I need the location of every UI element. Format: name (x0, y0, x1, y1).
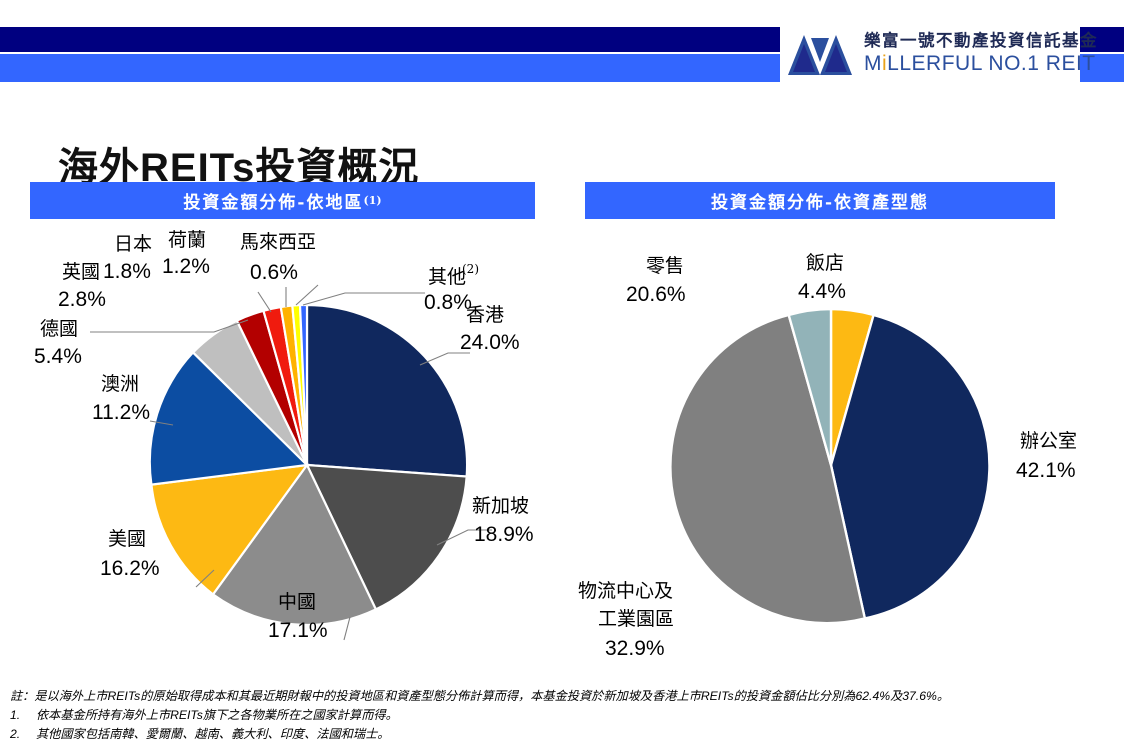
footnotes: 註：是以海外上市REITs的原始取得成本和其最近期財報中的投資地區和資產型態分佈… (10, 687, 1124, 744)
label-us-val: 16.2% (100, 557, 160, 580)
label-uk-val: 2.8% (58, 288, 106, 311)
label-hotel-name: 飯店 (806, 252, 844, 274)
label-hk-name: 香港 (466, 304, 504, 326)
logo-chinese-name: 樂富一號不動產投資信託基金 (864, 33, 1098, 50)
logo-en-post: LLERFUL NO.1 REIT (887, 52, 1095, 75)
label-hk-val: 24.0% (460, 331, 520, 354)
footnote-main-a: 註：是以海外上市 (10, 687, 108, 706)
label-nl-name: 荷蘭 (168, 229, 206, 251)
footnote-main-b: 的原始取得成本和其最近期財報中的投資地區和資產型態分佈計算而得，本基金投資於新加… (140, 687, 701, 706)
label-hotel-val: 4.4% (798, 280, 846, 303)
triangles-logo-icon (786, 31, 854, 77)
panel-header-by-region: 投資金額分佈-依地區(1) (30, 182, 535, 219)
panel-header-left-text: 投資金額分佈-依地區 (183, 188, 363, 213)
label-us-name: 美國 (108, 528, 146, 550)
footnote-main-c: 的投資金額佔比分別為 (734, 687, 856, 706)
label-jp-name: 日本 (114, 233, 152, 255)
footnote-main-lat2: REITs (701, 687, 734, 706)
label-jp-val-inline: 1.8% (103, 260, 151, 283)
label-office-val: 42.1% (1016, 459, 1076, 482)
label-de-val: 5.4% (34, 345, 82, 368)
label-my-val: 0.6% (250, 261, 298, 284)
pie-slices-asset (670, 309, 989, 623)
label-sg-val: 18.9% (474, 523, 534, 546)
footnote-1-latin: REITs (170, 708, 203, 722)
label-nl-val: 1.2% (162, 255, 210, 278)
logo-english-name: MiLLERFUL NO.1 REIT (864, 53, 1098, 74)
label-au-name: 澳洲 (101, 373, 139, 395)
footnote-1-number: 1. (10, 706, 36, 725)
footnote-main-e: 。 (937, 687, 949, 706)
footnote-2-text: 其他國家包括南韓、愛爾蘭、越南、義大利、印度、法國和瑞士。 (36, 725, 389, 744)
label-office-name: 辦公室 (1020, 430, 1077, 452)
logo-en-pre: M (864, 52, 882, 75)
footnote-2: 2.其他國家包括南韓、愛爾蘭、越南、義大利、印度、法國和瑞士。 (10, 725, 1124, 744)
footnote-1: 1.依本基金所持有海外上市REITs旗下之各物業所在之國家計算而得。 (10, 706, 1124, 725)
pie-chart-by-asset-type: 飯店 4.4% 辦公室 42.1% 零售 20.6% 物流中心及 工業園區 32… (560, 225, 1124, 675)
label-others-name: 其他 (428, 266, 466, 288)
footnote-main-lat4: 37.6% (902, 687, 937, 706)
label-uk-name: 英國 (62, 261, 100, 283)
footnote-1-a: 依本基金所持有海外上市 (36, 708, 170, 722)
panel-header-right-text: 投資金額分佈-依資產型態 (711, 188, 929, 213)
footnote-main-lat3: 62.4% (856, 687, 891, 706)
label-au-val: 11.2% (92, 401, 150, 424)
label-retail-name: 零售 (646, 255, 684, 277)
pie-slice-hong-kong (307, 305, 467, 477)
panel-header-left-sup: (1) (363, 194, 381, 207)
pie-chart-by-region: 英國 1.8% 2.8% 日本 荷蘭 1.2% 馬來西亞 0.6% 其他 (2)… (0, 225, 560, 675)
footnote-main-lat1: REITs (108, 687, 141, 706)
label-logi-name-2: 工業園區 (598, 608, 674, 630)
label-my-name: 馬來西亞 (240, 231, 316, 253)
footnote-2-number: 2. (10, 725, 36, 744)
label-retail-val: 20.6% (626, 283, 686, 306)
pie-slices-region (150, 305, 467, 625)
label-cn-val: 17.1% (268, 619, 328, 642)
label-logi-val: 32.9% (605, 637, 665, 660)
brand-logo: 樂富一號不動產投資信託基金 MiLLERFUL NO.1 REIT (780, 20, 1080, 87)
footnote-main: 註：是以海外上市REITs的原始取得成本和其最近期財報中的投資地區和資產型態分佈… (10, 687, 1124, 706)
footnote-main-d: 及 (890, 687, 902, 706)
label-cn-name: 中國 (278, 591, 316, 613)
label-de-name: 德國 (40, 318, 78, 340)
footnote-1-b: 旗下之各物業所在之國家計算而得。 (203, 708, 398, 722)
label-others-val: 0.8% (424, 291, 472, 314)
label-sg-name: 新加坡 (472, 495, 529, 517)
label-logi-name-1: 物流中心及 (578, 580, 673, 602)
label-others-sup: (2) (462, 262, 479, 276)
panel-header-by-asset-type: 投資金額分佈-依資產型態 (585, 182, 1055, 219)
